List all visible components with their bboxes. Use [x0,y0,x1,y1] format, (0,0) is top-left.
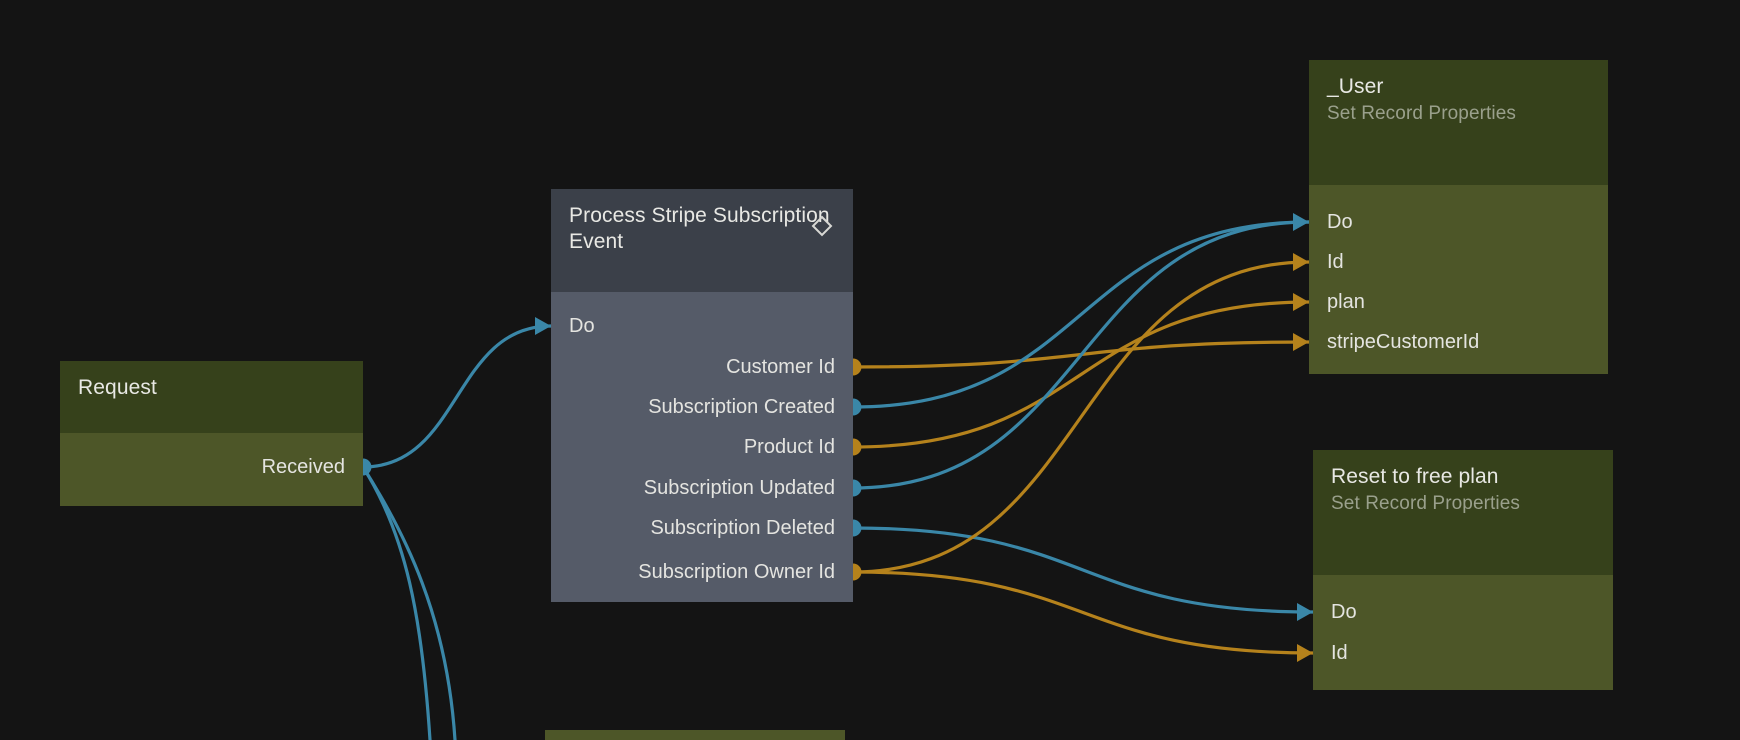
edge-customer-id-to-stripecustomerid [853,342,1309,367]
output-port-subscription-deleted[interactable]: Subscription Deleted [650,516,835,540]
input-port-do[interactable]: Do [1331,600,1357,624]
node-header-reset-to-free-plan-set-record-properties[interactable]: Reset to free planSet Record Properties [1313,450,1613,575]
input-port-id[interactable]: Id [1331,641,1348,665]
node-title: Process Stripe Subscription Event [569,203,835,255]
node-header-request[interactable]: Request [60,361,363,433]
output-port-product-id[interactable]: Product Id [744,435,835,459]
edge-subscription-deleted-to-reset-do [853,528,1313,612]
offscreen-node-top-edge[interactable] [545,730,845,740]
input-arrow-stripecustomerid[interactable] [1293,333,1309,351]
input-port-id[interactable]: Id [1327,250,1344,274]
edge-subscription-owner-id-to-id [853,262,1309,572]
input-arrow-do[interactable] [535,317,551,335]
edge-subscription-owner-id-to-reset-id [853,572,1313,653]
input-arrow-plan[interactable] [1293,293,1309,311]
edge-received-to-do [363,326,551,467]
node-process-stripe-subscription-event[interactable]: Process Stripe Subscription EventDoCusto… [551,189,853,602]
node-header-user-set-record-properties[interactable]: _UserSet Record Properties [1309,60,1608,185]
input-arrow-id[interactable] [1297,644,1313,662]
node-subtitle: Set Record Properties [1331,491,1595,516]
input-arrow-do[interactable] [1293,213,1309,231]
edge-subscription-created-to-user-do [853,222,1309,407]
input-port-plan[interactable]: plan [1327,290,1365,314]
node-body-reset-to-free-plan-set-record-properties [1313,575,1613,690]
diamond-icon[interactable] [811,215,833,237]
node-header-process-stripe-subscription-event[interactable]: Process Stripe Subscription Event [551,189,853,292]
node-title: _User [1327,74,1590,100]
node-title: Reset to free plan [1331,464,1595,490]
edge-received-to-offscreen-b [363,467,455,740]
node-reset-to-free-plan-set-record-properties[interactable]: Reset to free planSet Record PropertiesD… [1313,450,1613,690]
node-title: Request [78,375,345,401]
node-request[interactable]: RequestReceived [60,361,363,506]
node-user-set-record-properties[interactable]: _UserSet Record PropertiesDoIdplanstripe… [1309,60,1608,374]
edge-received-to-offscreen-a [363,467,430,740]
input-port-stripecustomerid[interactable]: stripeCustomerId [1327,330,1479,354]
output-port-customer-id[interactable]: Customer Id [726,355,835,379]
edge-product-id-to-plan [853,302,1309,447]
node-subtitle: Set Record Properties [1327,101,1590,126]
output-port-subscription-created[interactable]: Subscription Created [648,395,835,419]
output-port-received[interactable]: Received [262,455,345,479]
input-port-do[interactable]: Do [1327,210,1353,234]
output-port-subscription-owner-id[interactable]: Subscription Owner Id [638,560,835,584]
input-arrow-do[interactable] [1297,603,1313,621]
output-port-subscription-updated[interactable]: Subscription Updated [644,476,835,500]
input-port-do[interactable]: Do [569,314,595,338]
node-graph-canvas[interactable]: RequestReceivedProcess Stripe Subscripti… [0,0,1740,740]
edge-subscription-updated-to-user-do [853,222,1309,488]
input-arrow-id[interactable] [1293,253,1309,271]
